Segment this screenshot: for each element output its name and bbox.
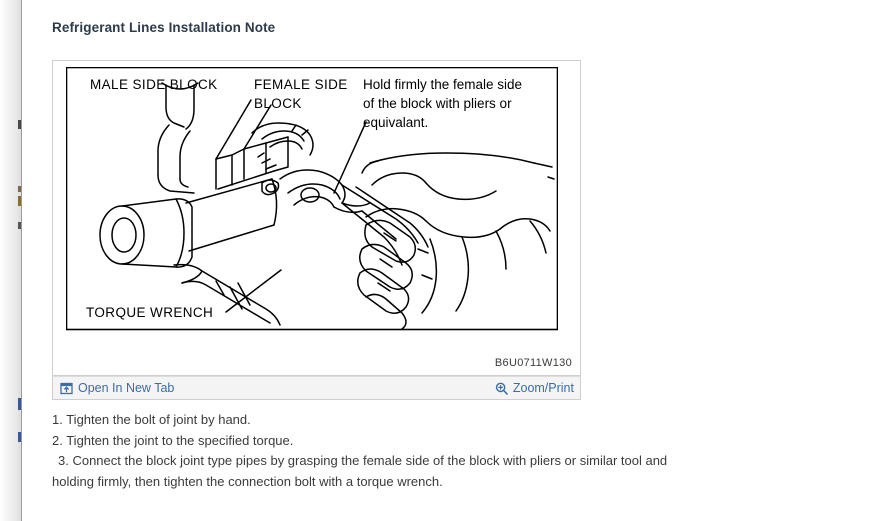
gutter-marker [18,120,21,129]
magnifier-plus-icon [495,382,508,395]
content-area: Refrigerant Lines Installation Note [22,0,878,521]
open-in-new-tab-label: Open In New Tab [78,382,174,395]
figure-action-bar: Open In New Tab Zoom/Print [52,376,581,400]
open-in-new-window-icon [60,382,73,395]
steps-list: 1. Tighten the bolt of joint by hand. 2.… [52,410,732,492]
list-item: 1. Tighten the bolt of joint by hand. [52,410,732,431]
note-line-3: equivalant. [363,115,428,130]
gutter-marker [18,186,21,192]
label-female-side-block-line1: FEMALE SIDE [254,77,348,92]
gutter-marker [18,398,21,410]
figure-reference-code: B6U0711W130 [495,357,572,369]
label-female-side-block-line2: BLOCK [254,96,302,111]
gutter-marker [18,432,21,442]
zoom-print-button[interactable]: Zoom/Print [495,382,574,395]
gutter-marker [18,196,21,206]
open-in-new-tab-button[interactable]: Open In New Tab [60,382,174,395]
list-item: 3. Connect the block joint type pipes by… [52,451,702,492]
page-title: Refrigerant Lines Installation Note [52,20,275,35]
label-male-side-block: MALE SIDE BLOCK [90,77,218,92]
figure-card: MALE SIDE BLOCK FEMALE SIDE BLOCK Hold f… [52,60,581,376]
note-line-2: of the block with pliers or [363,96,512,111]
zoom-print-label: Zoom/Print [513,382,574,395]
gutter-marker [18,222,21,229]
label-torque-wrench: TORQUE WRENCH [86,305,213,320]
list-item: 2. Tighten the joint to the specified to… [52,431,732,452]
note-line-1: Hold firmly the female side [363,77,522,92]
figure-image[interactable]: MALE SIDE BLOCK FEMALE SIDE BLOCK Hold f… [66,67,558,342]
left-panel-gutter[interactable] [0,0,21,521]
